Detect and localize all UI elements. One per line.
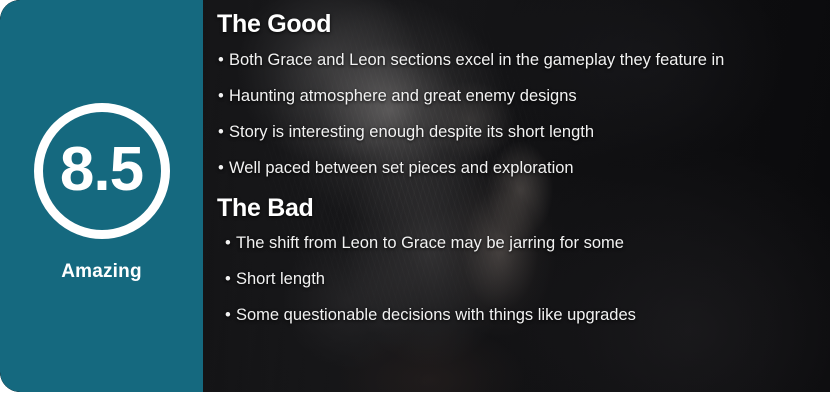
- list-item: Haunting atmosphere and great enemy desi…: [212, 78, 830, 114]
- section-heading-good: The Good: [212, 10, 830, 41]
- score-ring: 8.5: [34, 103, 170, 239]
- bad-points-list: The shift from Leon to Grace may be jarr…: [212, 225, 830, 333]
- score-label: Amazing: [61, 261, 142, 283]
- list-item: Both Grace and Leon sections excel in th…: [212, 41, 830, 78]
- list-item: Short length: [212, 261, 830, 297]
- section-heading-bad: The Bad: [212, 194, 830, 225]
- score-value: 8.5: [60, 139, 143, 201]
- list-item: Some questionable decisions with things …: [212, 297, 830, 333]
- list-item: The shift from Leon to Grace may be jarr…: [212, 225, 830, 261]
- good-points-list: Both Grace and Leon sections excel in th…: [212, 41, 830, 187]
- review-content: The Good Both Grace and Leon sections ex…: [203, 0, 830, 392]
- review-score-card: 8.5 Amazing The Good Both Grace and Leon…: [0, 0, 830, 392]
- list-item: Story is interesting enough despite its …: [212, 114, 830, 150]
- score-panel: 8.5 Amazing: [0, 0, 203, 392]
- list-item: Well paced between set pieces and explor…: [212, 150, 830, 186]
